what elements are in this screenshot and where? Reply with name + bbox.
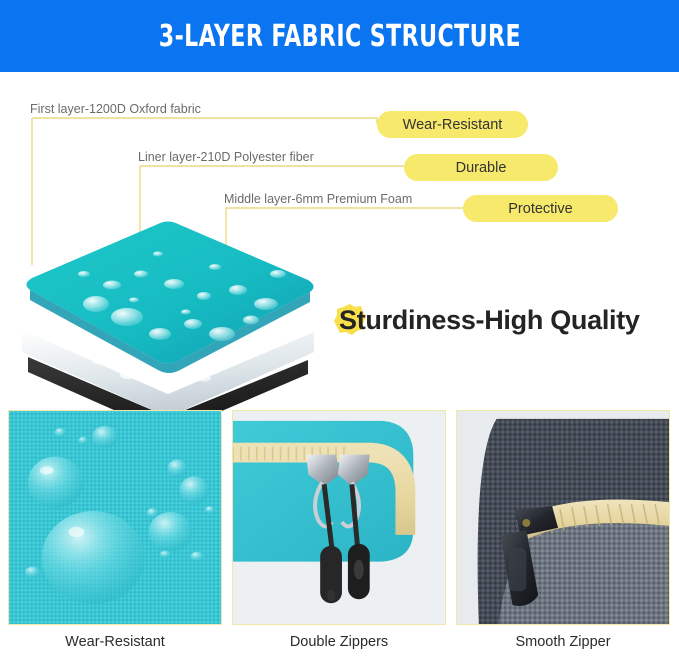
page-title: 3-LAYER FABRIC STRUCTURE xyxy=(158,19,520,54)
header-banner: 3-LAYER FABRIC STRUCTURE xyxy=(0,0,679,72)
layer-label-middle: Middle layer-6mm Premium Foam xyxy=(224,192,412,206)
feature-pill-protective: Protective xyxy=(463,195,618,222)
panel-caption-smooth-zipper: Smooth Zipper xyxy=(456,628,670,660)
fabric-structure-diagram: First layer-1200D Oxford fabric Liner la… xyxy=(0,72,679,397)
layer-label-liner: Liner layer-210D Polyester fiber xyxy=(138,150,314,164)
panel-caption-double-zippers: Double Zippers xyxy=(232,628,446,660)
panel-caption-wear-resistant: Wear-Resistant xyxy=(8,628,222,660)
feature-photo-wear-resistant xyxy=(8,410,222,625)
feature-photo-double-zippers xyxy=(232,410,446,625)
feature-pill-wear-resistant: Wear-Resistant xyxy=(377,111,528,138)
tagline: Sturdiness-High Quality xyxy=(333,300,640,340)
panel-captions-row: Wear-Resistant Double Zippers Smooth Zip… xyxy=(0,628,679,660)
feature-photo-smooth-zipper xyxy=(456,410,670,625)
tagline-text: Sturdiness-High Quality xyxy=(333,305,640,336)
feature-photos-row xyxy=(0,410,679,625)
layer-label-first: First layer-1200D Oxford fabric xyxy=(30,102,201,116)
feature-pill-durable: Durable xyxy=(404,154,558,181)
